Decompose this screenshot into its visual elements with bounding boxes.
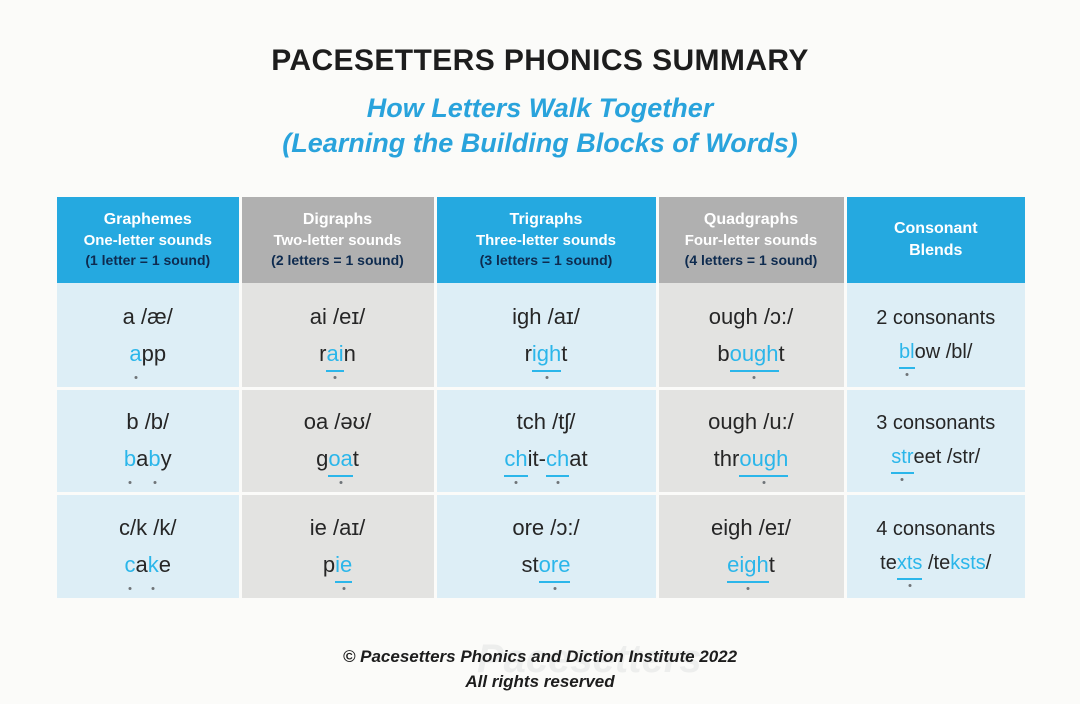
grapheme-highlight: xts [897,548,923,578]
grapheme-highlight: b [148,442,160,475]
header-title: Graphemes [63,209,233,231]
column-header-trigraphs: Trigraphs Three-letter sounds (3 letters… [435,197,657,283]
column-header-digraphs: Digraphs Two-letter sounds (2 letters = … [240,197,435,283]
blend-count: 2 consonants [851,304,1022,333]
blend-count: 3 consonants [851,409,1022,438]
column-header-quadgraphs: Quadgraphs Four-letter sounds (4 letters… [657,197,845,283]
cell-quadgraphs-row1: ough /ɔ:/ bought [657,283,845,388]
sound-notation: eigh /eɪ/ [663,512,840,544]
grapheme-highlight: igh [532,337,561,370]
example-word: through [663,442,840,475]
rights-line: All rights reserved [0,670,1080,695]
header-subtitle: Four-letter sounds [665,231,838,251]
example-word: rain [246,337,430,370]
example-word: bought [663,337,840,370]
grapheme-highlight: str [891,442,913,472]
cell-graphemes-row1: a /æ/ app [57,283,240,388]
example-word: texts /teksts/ [851,548,1022,578]
sound-notation: ai /eɪ/ [246,301,430,333]
header-row: Graphemes One-letter sounds (1 letter = … [57,197,1025,283]
column-header-graphemes: Graphemes One-letter sounds (1 letter = … [57,197,240,283]
cell-graphemes-row2: b /b/ baby [57,388,240,493]
phonics-table: Graphemes One-letter sounds (1 letter = … [57,197,1025,598]
grapheme-highlight: bl [899,337,915,367]
grapheme-highlight: c [125,548,136,581]
cell-quadgraphs-row3: eigh /eɪ/ eight [657,493,845,598]
titles-block: PACESETTERS PHONICS SUMMARY How Letters … [0,0,1080,160]
example-word: right [441,337,652,370]
example-word: goat [246,442,430,475]
grapheme-highlight: ie [335,548,352,581]
sound-notation: b /b/ [61,406,235,438]
header-rule: (3 letters = 1 sound) [443,251,650,271]
example-word: app [61,337,235,370]
grapheme-highlight: ai [326,337,343,370]
grapheme-highlight: ore [539,548,571,581]
sound-notation: a /æ/ [61,301,235,333]
header-title: Consonant [853,218,1020,240]
grapheme-highlight: k [148,548,159,581]
header-rule: (4 letters = 1 sound) [665,251,838,271]
cell-quadgraphs-row2: ough /u:/ through [657,388,845,493]
grapheme-highlight: ch [504,442,527,475]
grapheme-highlight: oa [328,442,352,475]
sound-notation: ie /aɪ/ [246,512,430,544]
sound-notation: ough /ɔ:/ [663,301,840,333]
table-row: b /b/ baby oa /əʊ/ goat tch /tʃ/ chit-ch… [57,388,1025,493]
phonics-summary-page: PACESETTERS PHONICS SUMMARY How Letters … [0,0,1080,704]
phonics-table-wrap: Pacesetters Graphemes One-letter sounds … [57,197,1025,598]
header-rule: (2 letters = 1 sound) [248,251,428,271]
grapheme-highlight: ough [730,337,779,370]
sound-notation: ore /ɔ:/ [441,512,652,544]
cell-graphemes-row3: c/k /k/ cake [57,493,240,598]
grapheme-highlight: ch [546,442,569,475]
header-subtitle: Two-letter sounds [248,231,428,251]
header-title: Trigraphs [443,209,650,231]
table-row: a /æ/ app ai /eɪ/ rain igh /aɪ/ right ou… [57,283,1025,388]
cell-digraphs-row3: ie /aɪ/ pie [240,493,435,598]
grapheme-highlight: a [129,337,141,370]
header-subtitle: Three-letter sounds [443,231,650,251]
cell-blends-row2: 3 consonants street /str/ [845,388,1025,493]
sound-notation: igh /aɪ/ [441,301,652,333]
sound-notation: ough /u:/ [663,406,840,438]
grapheme-highlight: ough [739,442,788,475]
example-word: chit-chat [441,442,652,475]
header-title: Digraphs [248,209,428,231]
table-body: a /æ/ app ai /eɪ/ rain igh /aɪ/ right ou… [57,283,1025,598]
copyright-line: © Pacesetters Phonics and Diction Instit… [0,645,1080,670]
header-rule: (1 letter = 1 sound) [63,251,233,271]
cell-trigraphs-row1: igh /aɪ/ right [435,283,657,388]
grapheme-highlight: ksts [950,548,986,578]
cell-blends-row1: 2 consonants blow /bl/ [845,283,1025,388]
blend-count: 4 consonants [851,515,1022,544]
subtitle-line-2: (Learning the Building Blocks of Words) [0,126,1080,161]
sound-notation: tch /tʃ/ [441,406,652,438]
header-title: Quadgraphs [665,209,838,231]
subtitle-line-1: How Letters Walk Together [0,91,1080,126]
sound-notation: c/k /k/ [61,512,235,544]
header-subtitle: Blends [853,240,1020,262]
example-word: blow /bl/ [851,337,1022,367]
table-row: c/k /k/ cake ie /aɪ/ pie ore /ɔ:/ store … [57,493,1025,598]
sound-notation: oa /əʊ/ [246,406,430,438]
column-header-consonant-blends: Consonant Blends [845,197,1025,283]
header-subtitle: One-letter sounds [63,231,233,251]
cell-trigraphs-row3: ore /ɔ:/ store [435,493,657,598]
cell-trigraphs-row2: tch /tʃ/ chit-chat [435,388,657,493]
example-word: cake [61,548,235,581]
table-header: Graphemes One-letter sounds (1 letter = … [57,197,1025,283]
example-word: baby [61,442,235,475]
grapheme-highlight: b [124,442,136,475]
page-title: PACESETTERS PHONICS SUMMARY [0,44,1080,77]
example-word: store [441,548,652,581]
grapheme-highlight: eigh [727,548,769,581]
cell-digraphs-row1: ai /eɪ/ rain [240,283,435,388]
cell-digraphs-row2: oa /əʊ/ goat [240,388,435,493]
cell-blends-row3: 4 consonants texts /teksts/ [845,493,1025,598]
example-word: eight [663,548,840,581]
footer: © Pacesetters Phonics and Diction Instit… [0,645,1080,694]
example-word: street /str/ [851,442,1022,472]
example-word: pie [246,548,430,581]
